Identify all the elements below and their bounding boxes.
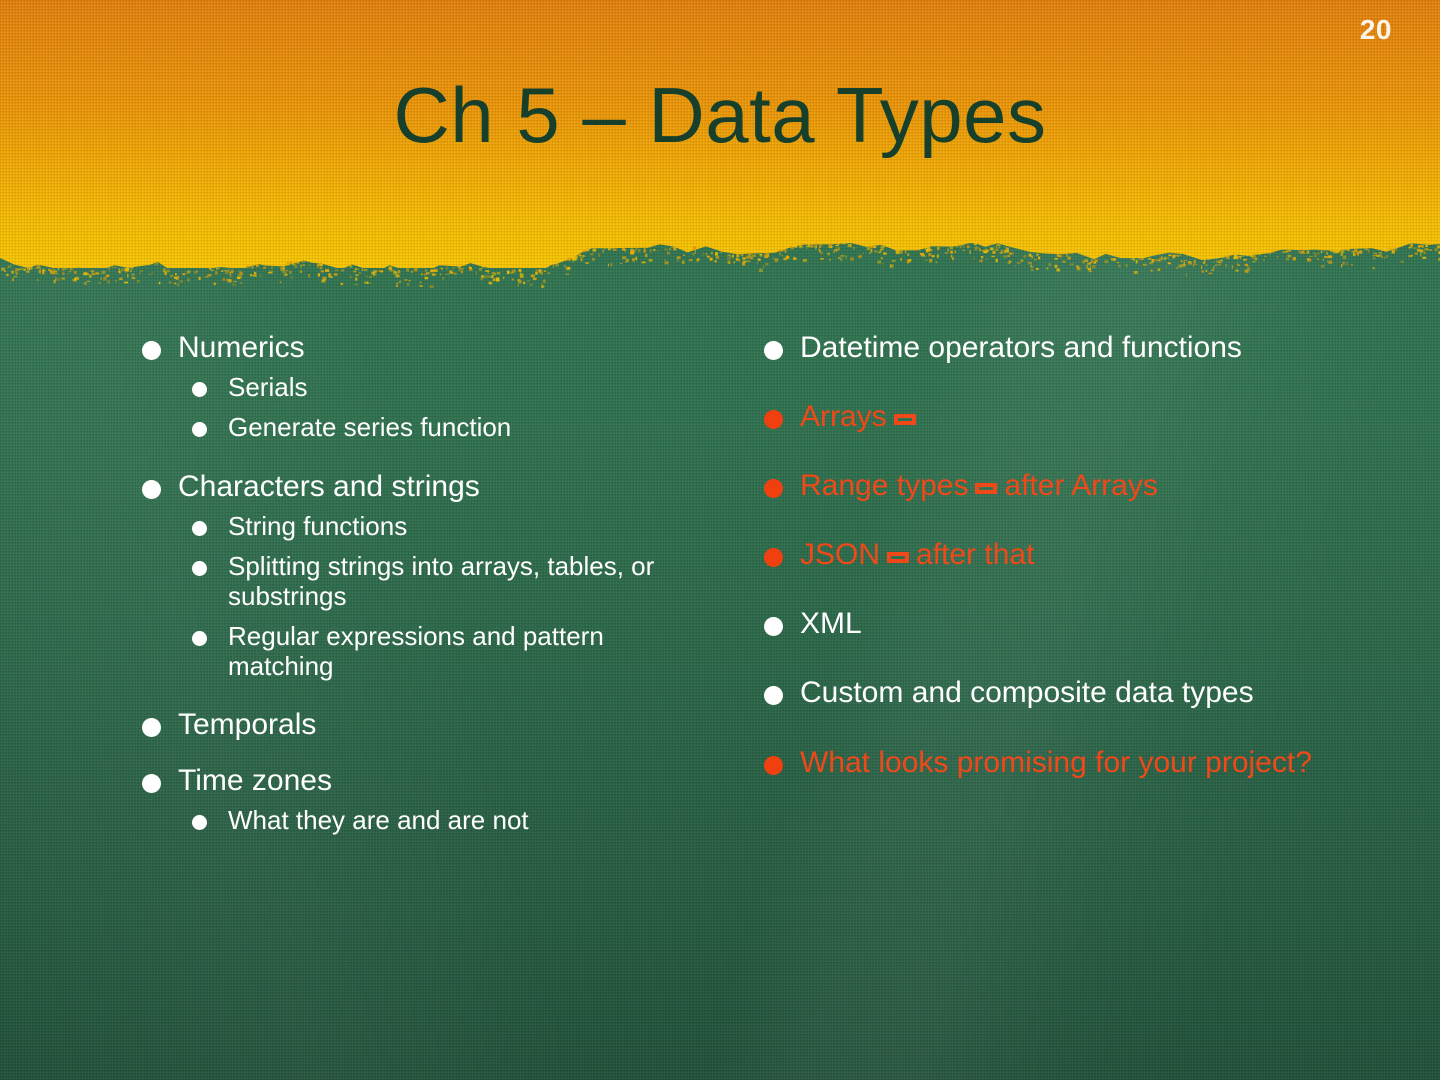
bullet-label: Splitting strings into arrays, tables, o… xyxy=(228,551,654,611)
bullet-dot-level-2 xyxy=(192,521,207,536)
bullet-dot-level-1 xyxy=(764,686,783,705)
bullet-item: Regular expressions and pattern matching xyxy=(178,622,690,682)
bullet-dot-level-1 xyxy=(764,756,783,775)
bullet-item: Range typesafter Arrays xyxy=(752,468,1332,503)
bullet-item: What looks promising for your project? xyxy=(752,745,1332,780)
bullet-dot-level-2 xyxy=(192,631,207,646)
page-number: 20 xyxy=(1360,14,1392,46)
bullet-label-suffix: after that xyxy=(916,538,1034,571)
bullet-dot-level-2 xyxy=(192,382,207,397)
bullet-label: Arrays xyxy=(800,400,887,433)
bullet-item: Splitting strings into arrays, tables, o… xyxy=(178,552,690,612)
bullet-label: Temporals xyxy=(178,708,316,741)
bullet-dot-level-1 xyxy=(142,718,161,737)
bullet-dot-level-1 xyxy=(142,480,161,499)
missing-glyph-box-icon xyxy=(894,414,916,425)
bullet-list-right: Datetime operators and functionsArraysRa… xyxy=(752,330,1332,780)
bullet-dot-level-2 xyxy=(192,422,207,437)
bullet-label: Time zones xyxy=(178,764,332,797)
bullet-sublist: What they are and are not xyxy=(178,806,690,836)
bullet-label: XML xyxy=(800,607,862,640)
bullet-item: XML xyxy=(752,606,1332,641)
bullet-item: String functions xyxy=(178,512,690,542)
bullet-item: Time zonesWhat they are and are not xyxy=(130,763,690,836)
bullet-list-left: NumericsSerialsGenerate series functionC… xyxy=(130,330,690,836)
bullet-label: Datetime operators and functions xyxy=(800,331,1242,364)
content-column-left: NumericsSerialsGenerate series functionC… xyxy=(130,330,690,862)
bullet-item: Characters and stringsString functionsSp… xyxy=(130,469,690,682)
bullet-item: NumericsSerialsGenerate series function xyxy=(130,330,690,443)
bullet-label: Serials xyxy=(228,372,307,402)
bullet-item: Arrays xyxy=(752,399,1332,434)
bullet-dot-level-1 xyxy=(764,617,783,636)
bullet-item: Serials xyxy=(178,373,690,403)
bullet-dot-level-2 xyxy=(192,815,207,830)
missing-glyph-box-icon xyxy=(887,552,909,563)
bullet-label: What they are and are not xyxy=(228,805,529,835)
bullet-sublist: String functionsSplitting strings into a… xyxy=(178,512,690,681)
bullet-dot-level-1 xyxy=(764,548,783,567)
bullet-item: Custom and composite data types xyxy=(752,675,1332,710)
bullet-label: Numerics xyxy=(178,331,305,364)
bullet-dot-level-1 xyxy=(764,479,783,498)
bullet-item: Temporals xyxy=(130,707,690,742)
bullet-label-suffix: after Arrays xyxy=(1004,469,1157,502)
bullet-label: Custom and composite data types xyxy=(800,676,1254,709)
bullet-label: Characters and strings xyxy=(178,470,480,503)
content-column-right: Datetime operators and functionsArraysRa… xyxy=(752,330,1332,814)
bullet-label: Generate series function xyxy=(228,412,511,442)
page-title: Ch 5 – Data Types xyxy=(0,76,1440,154)
bullet-dot-level-2 xyxy=(192,561,207,576)
bullet-dot-level-1 xyxy=(142,774,161,793)
bullet-label: String functions xyxy=(228,511,407,541)
bullet-dot-level-1 xyxy=(142,341,161,360)
bullet-label: JSON xyxy=(800,538,880,571)
bullet-dot-level-1 xyxy=(764,341,783,360)
bullet-sublist: SerialsGenerate series function xyxy=(178,373,690,443)
bullet-label: Regular expressions and pattern matching xyxy=(228,621,604,681)
bullet-label: What looks promising for your project? xyxy=(800,746,1312,779)
slide-canvas: Ch 5 – Data Types 20 NumericsSerialsGene… xyxy=(0,0,1440,1080)
bullet-item: JSONafter that xyxy=(752,537,1332,572)
missing-glyph-box-icon xyxy=(975,483,997,494)
bullet-item: Datetime operators and functions xyxy=(752,330,1332,365)
bullet-dot-level-1 xyxy=(764,410,783,429)
bullet-item: What they are and are not xyxy=(178,806,690,836)
bullet-item: Generate series function xyxy=(178,413,690,443)
bullet-label: Range types xyxy=(800,469,968,502)
